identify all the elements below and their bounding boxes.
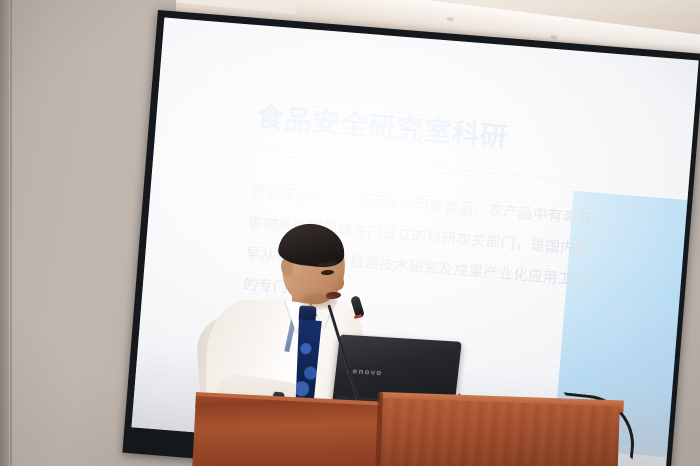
presentation-photo-scene: 食品安全研究室科研 食品安全研究室是苏微公司在食品、农产品中有毒有害物质监测领域… — [0, 0, 700, 466]
presenter-nose — [333, 274, 344, 290]
podium-right-panel — [379, 398, 620, 466]
